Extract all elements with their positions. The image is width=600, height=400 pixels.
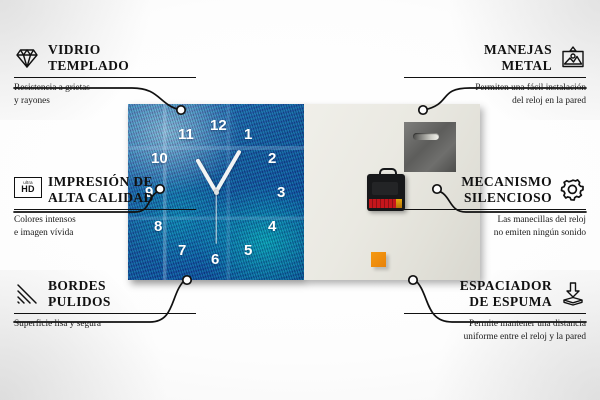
- callout-rule: [404, 313, 586, 315]
- mechanism-chip: [396, 199, 402, 208]
- callout-desc-line1: Colores intensos: [14, 214, 196, 226]
- foam-spacer: [371, 252, 386, 267]
- callout-impresion-alta-calidad: ultra HD IMPRESIÓN DE ALTA CALIDAD Color…: [14, 174, 196, 239]
- callout-title-line1: BORDES: [48, 278, 196, 294]
- callout-mecanismo-silencioso: MECANISMO SILENCIOSO Las manecillas del …: [404, 174, 586, 239]
- callout-espaciador-espuma: ESPACIADOR DE ESPUMA Permite mantener un…: [404, 278, 586, 343]
- callout-rule: [14, 209, 196, 211]
- clock-numeral: 6: [211, 252, 219, 267]
- callout-title-line2: ALTA CALIDAD: [48, 190, 196, 206]
- callout-title-line2: METAL: [404, 58, 552, 74]
- callout-title-line1: MECANISMO: [404, 174, 552, 190]
- callout-desc-line1: Las manecillas del reloj: [404, 214, 586, 226]
- callout-vidrio-templado: VIDRIO TEMPLADO Resistencia a grietas y …: [14, 42, 196, 107]
- callout-manejas-metal: MANEJAS METAL Permiten una fácil instala…: [404, 42, 586, 107]
- ultra-hd-icon: ultra HD: [14, 177, 40, 203]
- callout-desc-line2: e imagen vívida: [14, 227, 196, 239]
- callout-title-line1: MANEJAS: [404, 42, 552, 58]
- clock-numeral: 11: [178, 127, 194, 142]
- callout-desc-line1: Superficie lisa y segura: [14, 318, 196, 330]
- callout-desc-line1: Resistencia a grietas: [14, 82, 196, 94]
- clock-mechanism: [367, 174, 405, 211]
- callout-bordes-pulidos: BORDES PULIDOS Superficie lisa y segura: [14, 278, 196, 331]
- callout-title-line2: TEMPLADO: [48, 58, 196, 74]
- mechanism-vent: [372, 182, 398, 195]
- gear-icon: [560, 177, 586, 203]
- infographic-canvas: 12 1 2 3 4 5 6 7 8 9 10 11: [0, 0, 600, 400]
- clock-numeral: 10: [151, 151, 168, 166]
- callout-desc-line2: del reloj en la pared: [404, 95, 586, 107]
- second-hand: [215, 192, 216, 244]
- callout-desc-line1: Permite mantener una distancia: [404, 318, 586, 330]
- callout-desc-line2: uniforme entre el reloj y la pared: [404, 331, 586, 343]
- hanger-slot: [413, 133, 439, 140]
- callout-title-line2: SILENCIOSO: [404, 190, 552, 206]
- foam-spacer-arrow-icon: [560, 281, 586, 307]
- clock-numeral: 2: [268, 151, 276, 166]
- callout-rule: [14, 313, 196, 315]
- callout-desc-line2: no emiten ningún sonido: [404, 227, 586, 239]
- metal-hanger-plate: [404, 122, 456, 172]
- callout-title-line1: ESPACIADOR: [404, 278, 552, 294]
- clock-numeral: 1: [244, 127, 252, 142]
- clock-numeral: 12: [210, 118, 227, 133]
- callout-rule: [404, 209, 586, 211]
- callout-rule: [404, 77, 586, 79]
- clock-numeral: 3: [277, 185, 285, 200]
- clock-hub: [214, 190, 219, 195]
- diamond-icon: [14, 45, 40, 71]
- callout-title-line2: PULIDOS: [48, 294, 196, 310]
- ultra-hd-big-text: HD: [21, 185, 34, 194]
- clock-numeral: 7: [178, 243, 186, 258]
- callout-desc-line1: Permiten una fácil instalación: [404, 82, 586, 94]
- callout-title-line1: VIDRIO: [48, 42, 196, 58]
- callout-desc-line2: y rayones: [14, 95, 196, 107]
- callout-rule: [14, 77, 196, 79]
- mechanism-label: [369, 199, 399, 208]
- framed-picture-icon: [560, 45, 586, 71]
- clock-numeral: 4: [268, 219, 276, 234]
- mechanism-hook: [379, 168, 397, 178]
- callout-title-line2: DE ESPUMA: [404, 294, 552, 310]
- callout-title-line1: IMPRESIÓN DE: [48, 174, 196, 190]
- polished-edge-icon: [14, 281, 40, 307]
- clock-numeral: 5: [244, 243, 252, 258]
